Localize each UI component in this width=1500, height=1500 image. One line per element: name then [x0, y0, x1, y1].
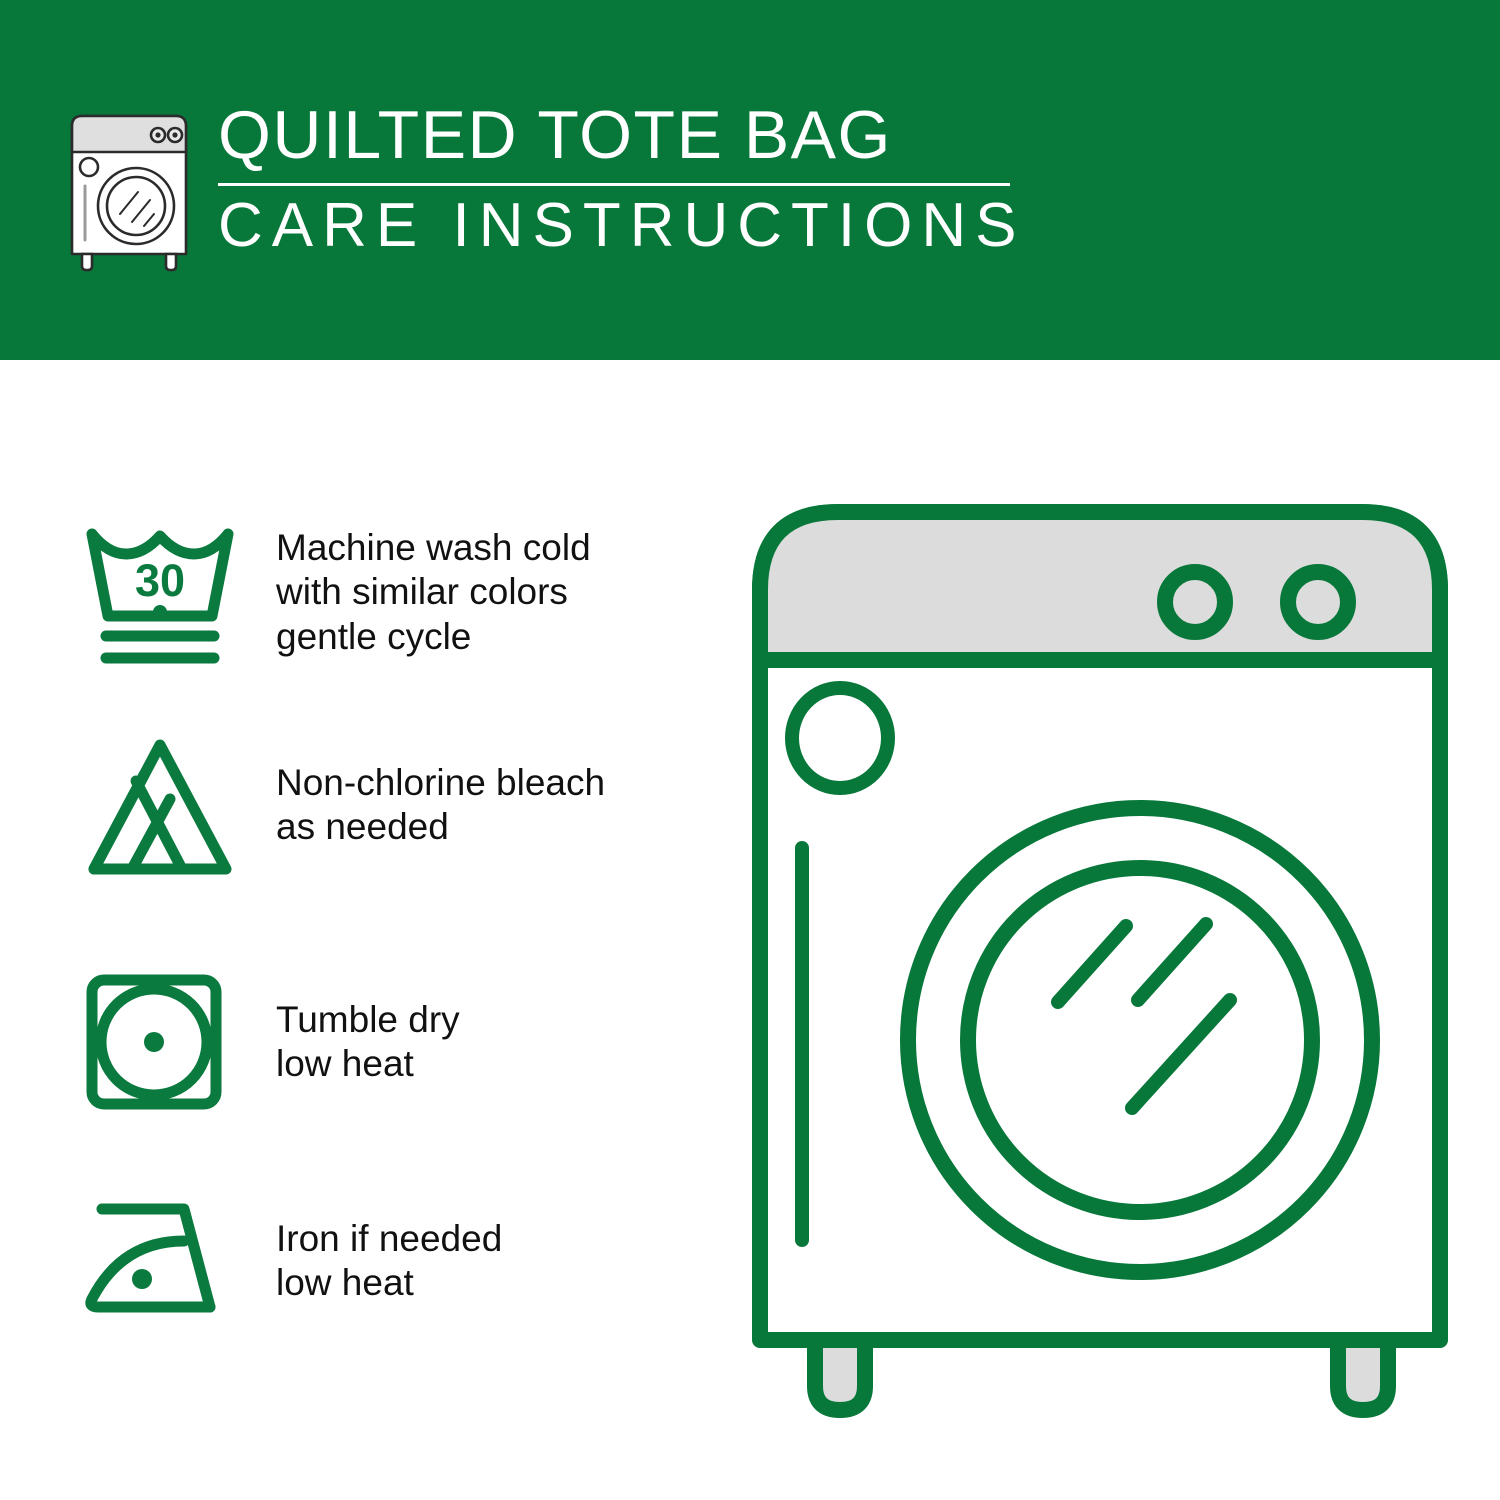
knob-right[interactable]: [1288, 572, 1348, 632]
header-divider: [218, 183, 1010, 186]
drum-inner-ring: [968, 868, 1312, 1212]
care-item-iron: Iron if needed low heat: [78, 1195, 698, 1325]
indicator-light: [792, 688, 888, 788]
knob-left[interactable]: [1165, 572, 1225, 632]
care-item-label: Tumble dry low heat: [276, 968, 460, 1087]
non-chlorine-bleach-icon: [78, 735, 242, 883]
care-item-machine-wash: 30 Machine wash cold with similar colors…: [78, 520, 698, 668]
header-band: QUILTED TOTE BAG CARE INSTRUCTIONS: [0, 0, 1500, 360]
leg-right: [1338, 1340, 1388, 1410]
care-instructions-infographic: QUILTED TOTE BAG CARE INSTRUCTIONS 30: [0, 0, 1500, 1500]
page-title: QUILTED TOTE BAG: [218, 100, 1018, 171]
tumble-dry-dot: [144, 1032, 164, 1052]
care-item-label: Iron if needed low heat: [276, 1195, 502, 1306]
leg-left: [815, 1340, 865, 1410]
washing-machine-icon: [58, 104, 200, 272]
care-item-tumble-dry: Tumble dry low heat: [78, 968, 698, 1116]
care-item-label: Non-chlorine bleach as needed: [276, 735, 605, 850]
wash-temperature-label: 30: [135, 555, 185, 606]
care-item-label: Machine wash cold with similar colors ge…: [276, 520, 591, 659]
care-item-bleach: Non-chlorine bleach as needed: [78, 735, 698, 883]
iron-low-icon: [78, 1195, 242, 1325]
iron-dot: [132, 1269, 152, 1289]
machine-wash-30-icon: 30: [78, 520, 242, 668]
wash-dot: [153, 605, 167, 619]
care-instruction-list: 30 Machine wash cold with similar colors…: [0, 360, 720, 1500]
page-subtitle: CARE INSTRUCTIONS: [218, 192, 1018, 260]
header-text-block: QUILTED TOTE BAG CARE INSTRUCTIONS: [218, 100, 1018, 261]
washing-machine-illustration: [740, 480, 1460, 1430]
tumble-dry-low-icon: [78, 968, 242, 1116]
